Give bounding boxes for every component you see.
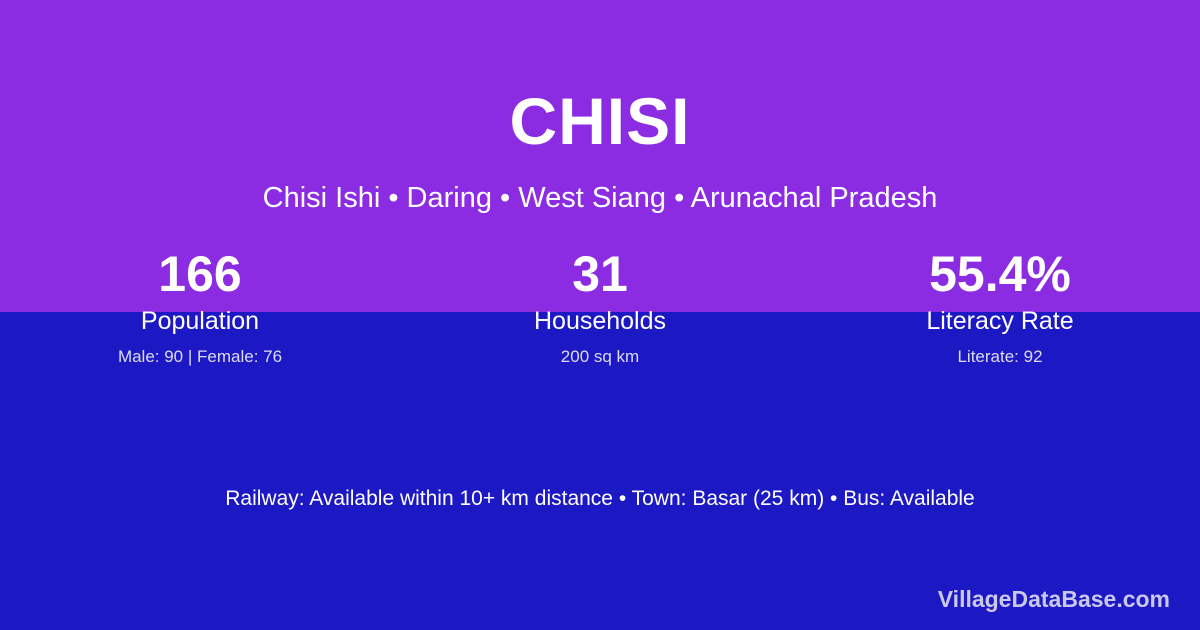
stat-population: 166 Population Male: 90 | Female: 76 (0, 246, 400, 368)
facilities-line: Railway: Available within 10+ km distanc… (0, 484, 1200, 513)
breadcrumb: Chisi Ishi • Daring • West Siang • Aruna… (0, 180, 1200, 218)
site-watermark: VillageDataBase.com (938, 586, 1170, 613)
stat-label: Population (0, 306, 400, 337)
stat-value: 166 (0, 246, 400, 304)
village-info-card: CHISI Chisi Ishi • Daring • West Siang •… (0, 0, 1200, 630)
stat-label: Households (400, 306, 800, 337)
stat-sublabel: Literate: 92 (800, 346, 1200, 368)
stat-value: 31 (400, 246, 800, 304)
stat-households: 31 Households 200 sq km (400, 246, 800, 368)
stats-row: 166 Population Male: 90 | Female: 76 31 … (0, 246, 1200, 368)
stat-sublabel: 200 sq km (400, 346, 800, 368)
stat-value: 55.4% (800, 246, 1200, 304)
page-title: CHISI (0, 88, 1200, 154)
stat-literacy-rate: 55.4% Literacy Rate Literate: 92 (800, 246, 1200, 368)
stat-label: Literacy Rate (800, 306, 1200, 337)
stat-sublabel: Male: 90 | Female: 76 (0, 346, 400, 368)
